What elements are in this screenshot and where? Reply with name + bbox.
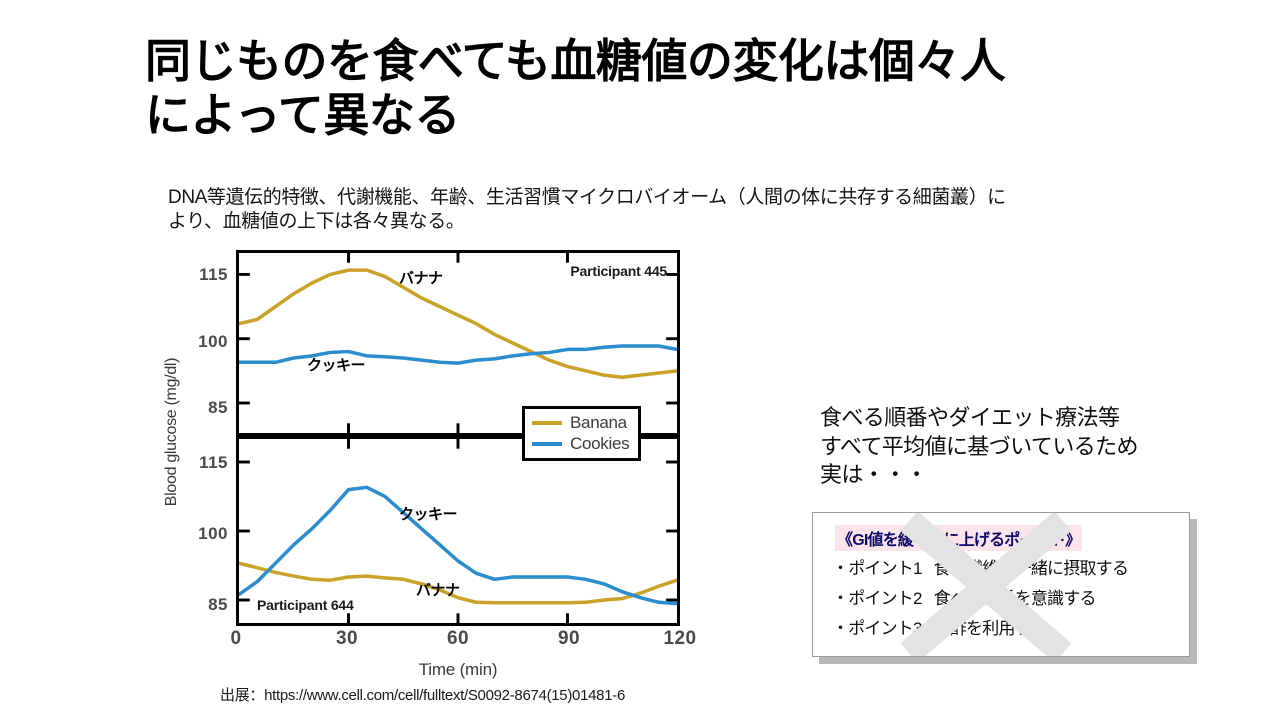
legend-item-cookies: Cookies [532,433,629,454]
x-tick-90: 90 [558,628,580,650]
source-citation: 出展：https://www.cell.com/cell/fulltext/S0… [220,684,625,705]
gi-tips-heading: 《GI値を緩やかに上げるポイント》 [835,525,1082,551]
gi-tip-line-3: ・ポイント3お酢を利用する [832,614,1047,639]
gi-tip-line-1: ・ポイント1食物繊維と一緒に摂取する [832,554,1128,579]
series-label-cookies-top: クッキー [307,354,365,375]
legend-item-banana: Banana [532,412,629,433]
legend-label-banana: Banana [570,413,627,433]
gi-tip-number-3: ・ポイント3 [832,619,922,638]
gi-tip-text-1: 食物繊維と一緒に摂取する [934,559,1128,578]
gi-tip-text-3: お酢を利用する [934,619,1047,638]
x-tick-120: 120 [664,628,697,650]
y-tick-top-100: 100 [198,332,228,352]
x-tick-0: 0 [231,628,242,650]
gi-tip-line-2: ・ポイント2食べる順番を意識する [832,584,1096,609]
glucose-response-figure: Blood glucose (mg/dl) Participant 445 バナ… [136,248,696,688]
right-commentary-text: 食べる順番やダイエット療法等 すべて平均値に基づいているため 実は・・・ [820,404,1220,490]
legend-swatch-cookies [532,442,562,446]
lead-paragraph: DNA等遺伝的特徴、代謝機能、年齢、生活習慣マイクロバイオーム（人間の体に共存す… [168,186,1190,235]
chart-x-axis: 0306090120Time (min) [236,628,680,684]
x-tick-30: 30 [336,628,358,650]
chart-legend: Banana Cookies [522,406,641,461]
y-tick-bottom-85: 85 [208,595,228,615]
gi-tip-number-1: ・ポイント1 [832,559,922,578]
series-label-banana-bottom: バナナ [416,579,460,600]
series-label-cookies-bottom: クッキー [399,503,457,524]
series-label-banana-top: バナナ [399,267,443,288]
x-tick-60: 60 [447,628,469,650]
gi-tip-text-2: 食べる順番を意識する [934,589,1096,608]
gi-tip-number-2: ・ポイント2 [832,589,922,608]
y-tick-top-85: 85 [208,398,228,418]
chart-x-axis-title: Time (min) [236,660,680,680]
legend-label-cookies: Cookies [570,434,629,454]
chart-y-axis-title: Blood glucose (mg/dl) [163,322,181,542]
y-tick-top-115: 115 [199,265,228,285]
panel-annotation-bottom: Participant 644 [257,597,354,613]
y-tick-bottom-115: 115 [199,453,228,473]
panel-annotation-top: Participant 445 [570,263,667,279]
legend-swatch-banana [532,421,562,425]
gi-tips-card-wrapper: 《GI値を緩やかに上げるポイント》 ・ポイント1食物繊維と一緒に摂取する ・ポイ… [812,512,1197,664]
chart-panel-participant-644: Participant 644 クッキー バナナ 115 100 85 [236,436,680,626]
gi-tips-card: 《GI値を緩やかに上げるポイント》 ・ポイント1食物繊維と一緒に摂取する ・ポイ… [812,512,1190,657]
page-title: 同じものを食べても血糖値の変化は個々人 によって異なる [145,34,1205,143]
y-tick-bottom-100: 100 [198,524,228,544]
